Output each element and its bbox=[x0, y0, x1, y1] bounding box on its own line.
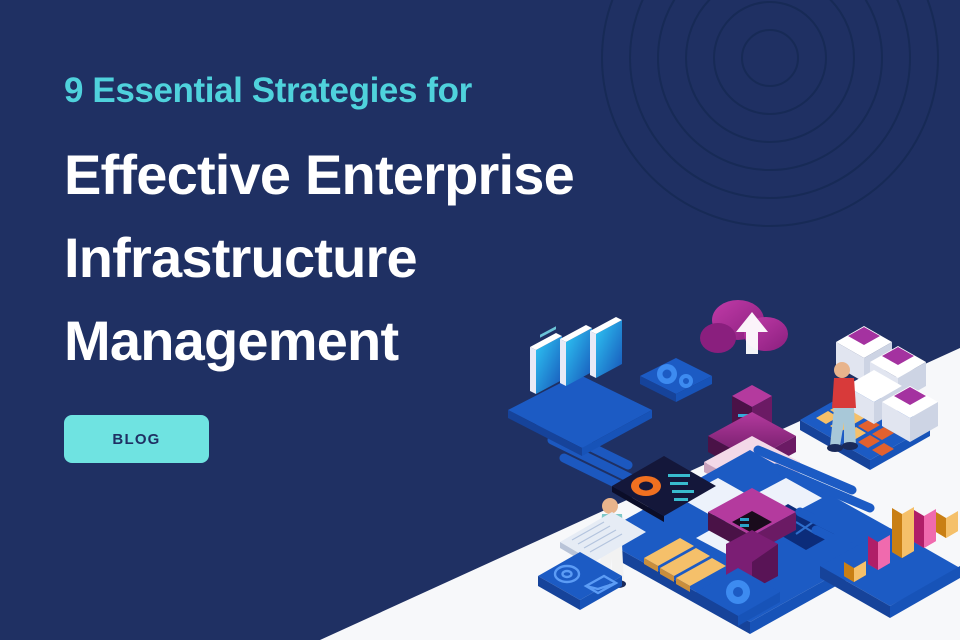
gears-tile bbox=[640, 358, 712, 402]
gear-icon bbox=[726, 580, 750, 604]
hero-banner: 9 Essential Strategies for Effective Ent… bbox=[0, 0, 960, 640]
eyebrow-text: 9 Essential Strategies for bbox=[64, 72, 744, 111]
headline-line-1: Effective Enterprise bbox=[64, 133, 744, 216]
blog-badge[interactable]: BLOG bbox=[64, 415, 209, 463]
headline-line-2: Infrastructure bbox=[64, 216, 744, 299]
isometric-infrastructure-illustration bbox=[500, 290, 960, 640]
donut-chart-icon bbox=[631, 476, 661, 496]
monitor-stack-platform bbox=[508, 317, 652, 456]
blog-badge-label: BLOG bbox=[112, 431, 160, 448]
